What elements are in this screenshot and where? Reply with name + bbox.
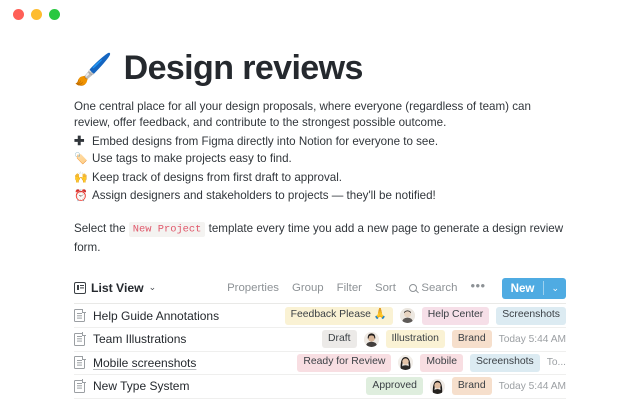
instruction-prefix: Select the — [74, 222, 126, 235]
bullet-item-0: ✚ Embed designs from Figma directly into… — [74, 133, 566, 150]
new-button-chevron-down-icon[interactable]: ⌄ — [544, 278, 566, 299]
tag-badge[interactable]: Mobile — [420, 354, 463, 372]
page-title-row: 🖌️ Design reviews — [74, 51, 566, 87]
template-instruction: Select the New Project template every ti… — [74, 220, 566, 256]
avatar[interactable] — [400, 308, 415, 323]
status-badge[interactable]: Feedback Please 🙏 — [285, 307, 393, 325]
toolbar-actions: Properties Group Filter Sort Search ••• … — [227, 278, 566, 299]
title-bar — [0, 0, 640, 29]
bullet-text-1: Use tags to make projects easy to find. — [92, 150, 292, 167]
page-title: Design reviews — [124, 51, 363, 87]
row-timestamp: Today 5:44 AM — [499, 381, 566, 392]
row-properties: Approved Brand Today 5:44 AM — [366, 377, 566, 395]
alarm-clock-icon: ⏰ — [74, 188, 87, 205]
page-document-icon — [74, 309, 85, 322]
plus-icon: ✚ — [74, 133, 87, 150]
chevron-down-icon: ⌄ — [149, 282, 157, 293]
database-toolbar: List View ⌄ Properties Group Filter Sort… — [74, 275, 566, 302]
maximize-window-button[interactable] — [49, 9, 60, 20]
table-row[interactable]: Team Illustrations Draft Illustration Br… — [74, 328, 566, 352]
row-properties: Ready for Review Mobile Screenshots To..… — [297, 354, 566, 372]
bullet-text-2: Keep track of designs from first draft t… — [92, 169, 342, 186]
toolbar-divider — [74, 303, 566, 304]
status-badge[interactable]: Ready for Review — [297, 354, 391, 372]
close-window-button[interactable] — [13, 9, 24, 20]
row-title[interactable]: New Type System — [93, 379, 189, 393]
status-badge[interactable]: Approved — [366, 377, 422, 395]
row-timestamp: To... — [547, 357, 566, 368]
bullet-text-3: Assign designers and stakeholders to pro… — [92, 187, 436, 204]
search-button[interactable]: Search — [409, 282, 458, 294]
avatar-face-icon — [430, 379, 445, 394]
filter-button[interactable]: Filter — [337, 282, 362, 294]
tag-badge[interactable]: Screenshots — [470, 354, 540, 372]
tag-icon: 🏷️ — [74, 151, 87, 168]
tag-badge[interactable]: Screenshots — [496, 307, 566, 325]
paintbrush-icon: 🖌️ — [74, 54, 113, 85]
new-button[interactable]: New ⌄ — [502, 278, 566, 299]
search-label: Search — [421, 282, 457, 294]
table-row[interactable]: New Type System Approved Brand Today 5:4… — [74, 375, 566, 399]
group-button[interactable]: Group — [292, 282, 324, 294]
new-button-label: New — [502, 278, 544, 299]
table-row[interactable]: Help Guide Annotations Feedback Please 🙏… — [74, 305, 566, 329]
avatar-face-icon — [364, 332, 379, 347]
page-document-icon — [74, 356, 85, 369]
minimize-window-button[interactable] — [31, 9, 42, 20]
tag-badge[interactable]: Brand — [452, 377, 492, 395]
avatar-face-icon — [400, 308, 415, 323]
avatar[interactable] — [364, 332, 379, 347]
page-content: 🖌️ Design reviews One central place for … — [0, 29, 640, 400]
template-name-code: New Project — [129, 222, 206, 237]
page-document-icon — [74, 333, 85, 346]
bullet-item-2: 🙌 Keep track of designs from first draft… — [74, 169, 566, 187]
tag-badge[interactable]: Illustration — [386, 330, 445, 348]
avatar[interactable] — [430, 379, 445, 394]
tag-badge[interactable]: Help Center — [422, 307, 489, 325]
avatar[interactable] — [398, 355, 413, 370]
view-selector[interactable]: List View ⌄ — [74, 281, 156, 295]
row-properties: Draft Illustration Brand Today 5:44 AM — [322, 330, 566, 348]
app-window: 🖌️ Design reviews One central place for … — [0, 0, 640, 400]
list-view-icon — [74, 282, 86, 294]
row-properties: Feedback Please 🙏 Help Center Screenshot… — [285, 307, 566, 325]
avatar-face-icon — [398, 355, 413, 370]
tag-badge[interactable]: Brand — [452, 330, 492, 348]
traffic-light-group — [13, 9, 60, 20]
bullet-text-0: Embed designs from Figma directly into N… — [92, 133, 438, 150]
row-title[interactable]: Team Illustrations — [93, 332, 186, 346]
view-selector-label: List View — [91, 281, 144, 295]
bullet-item-3: ⏰ Assign designers and stakeholders to p… — [74, 187, 566, 205]
raised-hands-icon: 🙌 — [74, 170, 87, 187]
row-timestamp: Today 5:44 AM — [499, 334, 566, 345]
bullet-item-1: 🏷️ Use tags to make projects easy to fin… — [74, 150, 566, 168]
sort-button[interactable]: Sort — [375, 282, 396, 294]
page-document-icon — [74, 380, 85, 393]
bullet-list: ✚ Embed designs from Figma directly into… — [74, 133, 566, 206]
properties-button[interactable]: Properties — [227, 282, 279, 294]
more-options-icon[interactable]: ••• — [470, 278, 485, 293]
status-badge[interactable]: Draft — [322, 330, 357, 348]
search-icon — [409, 284, 418, 293]
intro-paragraph: One central place for all your design pr… — [74, 99, 554, 132]
row-title[interactable]: Mobile screenshots — [93, 356, 196, 370]
row-title[interactable]: Help Guide Annotations — [93, 309, 219, 323]
table-row[interactable]: Mobile screenshots Ready for Review Mobi… — [74, 352, 566, 376]
database-list: Help Guide Annotations Feedback Please 🙏… — [74, 305, 566, 400]
